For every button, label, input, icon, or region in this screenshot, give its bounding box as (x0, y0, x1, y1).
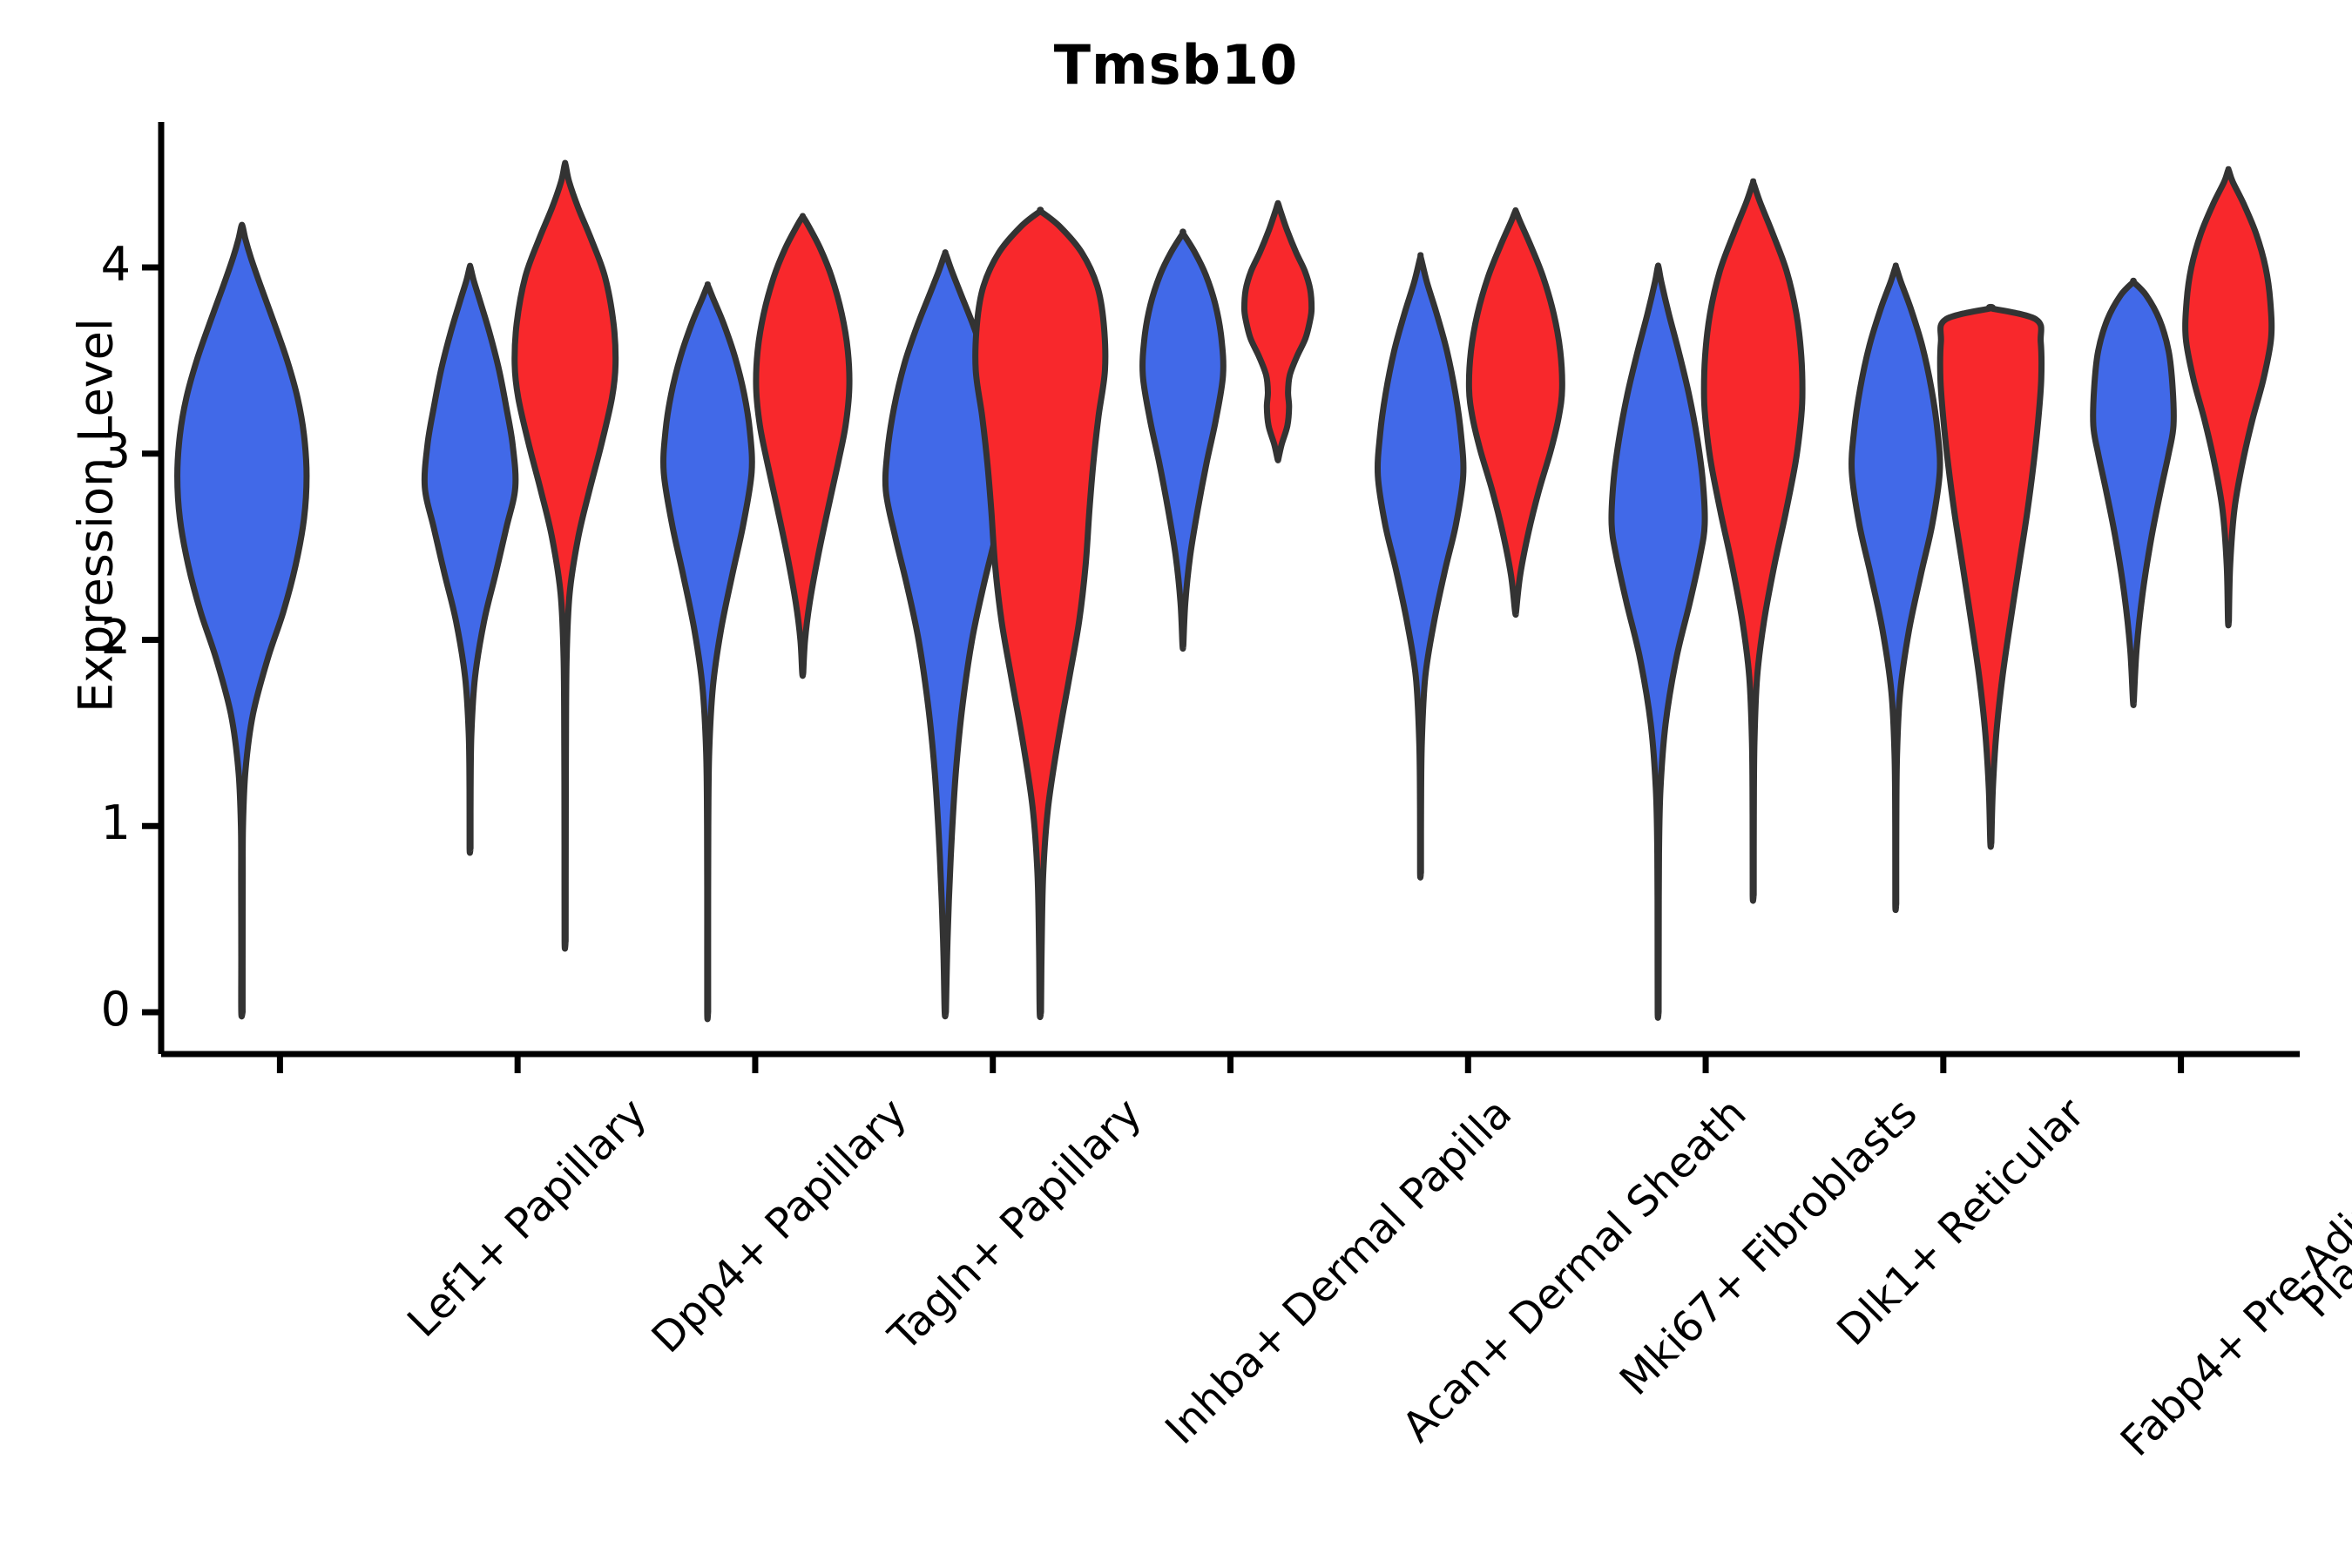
x-tick-label: Lef1+ Papillary (399, 1089, 657, 1347)
violin-plot-figure: Tmsb10 Expression Level 01234 Lef1+ Papi… (0, 0, 2352, 1568)
x-tick-label: Dpp4+ Papillary (643, 1089, 916, 1362)
x-tick-label: Mki67+ Fibroblasts (1611, 1089, 1927, 1405)
x-tick-label: Tagln+ Papillary (880, 1089, 1152, 1361)
x-axis-tick-labels: Lef1+ PapillaryDpp4+ PapillaryTagln+ Pap… (0, 0, 2352, 1568)
